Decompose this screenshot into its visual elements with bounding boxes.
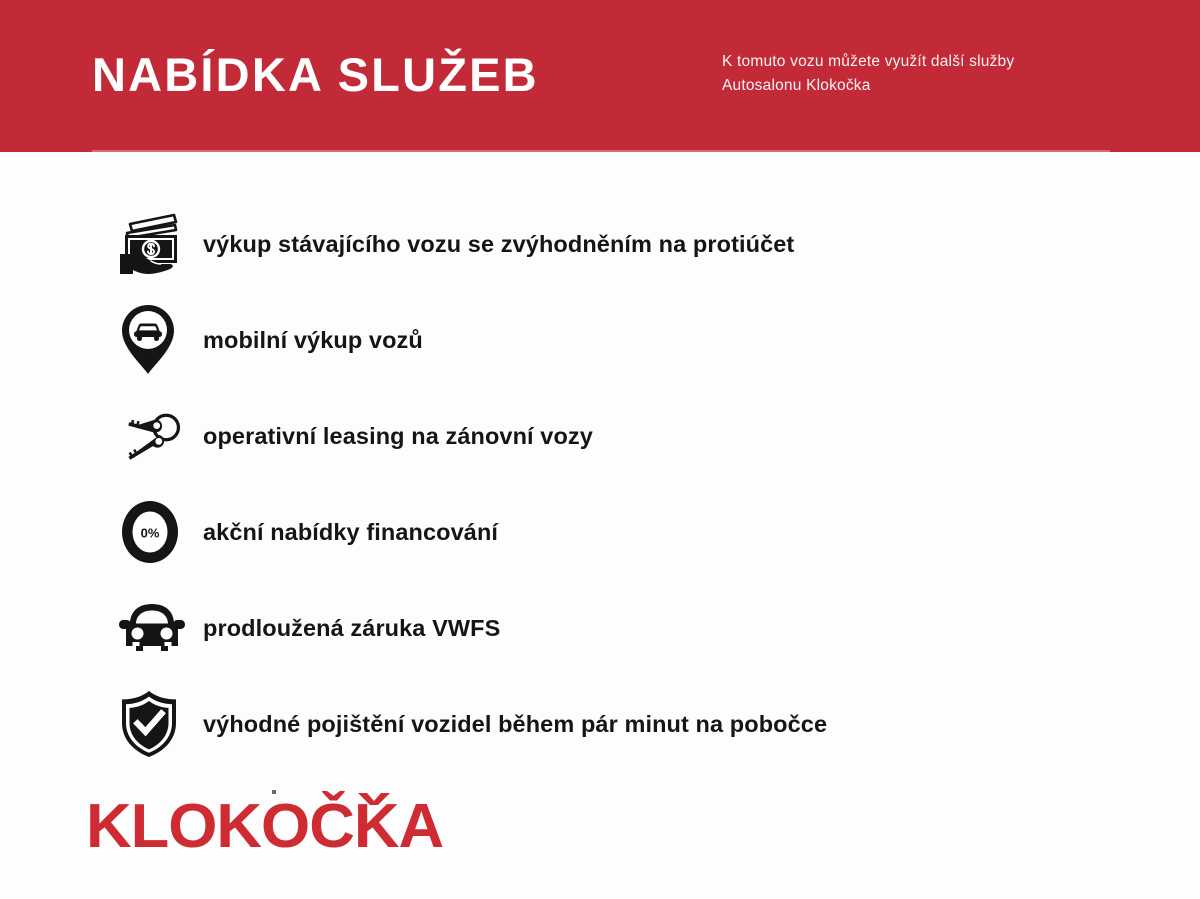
car-keys-icon <box>118 400 186 472</box>
header-banner-content: NABÍDKA SLUŽEB K tomuto vozu můžete využ… <box>92 0 1110 152</box>
klokocka-logo-text: KLOKOČKA <box>86 791 443 852</box>
list-item: prodloužená záruka VWFS <box>118 580 1118 676</box>
header-subtitle-line-1: K tomuto vozu můžete využít další služby <box>722 50 1014 74</box>
services-list: výkup stávajícího vozu se zvýhodněním na… <box>118 196 1118 772</box>
service-offer-page: NABÍDKA SLUŽEB K tomuto vozu můžete využ… <box>0 0 1200 899</box>
list-item: 0% akční nabídky financování <box>118 484 1118 580</box>
shield-check-icon <box>118 688 186 760</box>
cash-in-hand-icon <box>118 208 186 280</box>
page-title: NABÍDKA SLUŽEB <box>92 51 722 98</box>
car-front-icon <box>118 592 186 664</box>
header-banner: NABÍDKA SLUŽEB K tomuto vozu můžete využ… <box>0 0 1200 152</box>
zero-percent-ring-icon: 0% <box>118 496 186 568</box>
zero-percent-label: 0% <box>141 526 160 541</box>
list-item: výhodné pojištění vozidel během pár minu… <box>118 676 1118 772</box>
service-label: akční nabídky financování <box>203 519 498 546</box>
service-label: prodloužená záruka VWFS <box>203 615 500 642</box>
service-label: operativní leasing na zánovní vozy <box>203 423 593 450</box>
list-item: operativní leasing na zánovní vozy <box>118 388 1118 484</box>
header-subtitle-line-2: Autosalonu Klokočka <box>722 74 1014 98</box>
list-item: mobilní výkup vozů <box>118 292 1118 388</box>
map-pin-car-icon <box>118 304 186 376</box>
list-item: výkup stávajícího vozu se zvýhodněním na… <box>118 196 1118 292</box>
header-subtitle: K tomuto vozu můžete využít další služby… <box>722 50 1014 98</box>
service-label: mobilní výkup vozů <box>203 327 423 354</box>
service-label: výkup stávajícího vozu se zvýhodněním na… <box>203 231 794 258</box>
header-divider <box>92 150 1110 153</box>
klokocka-logo: KLOKOČKA <box>86 790 476 852</box>
service-label: výhodné pojištění vozidel během pár minu… <box>203 711 827 738</box>
